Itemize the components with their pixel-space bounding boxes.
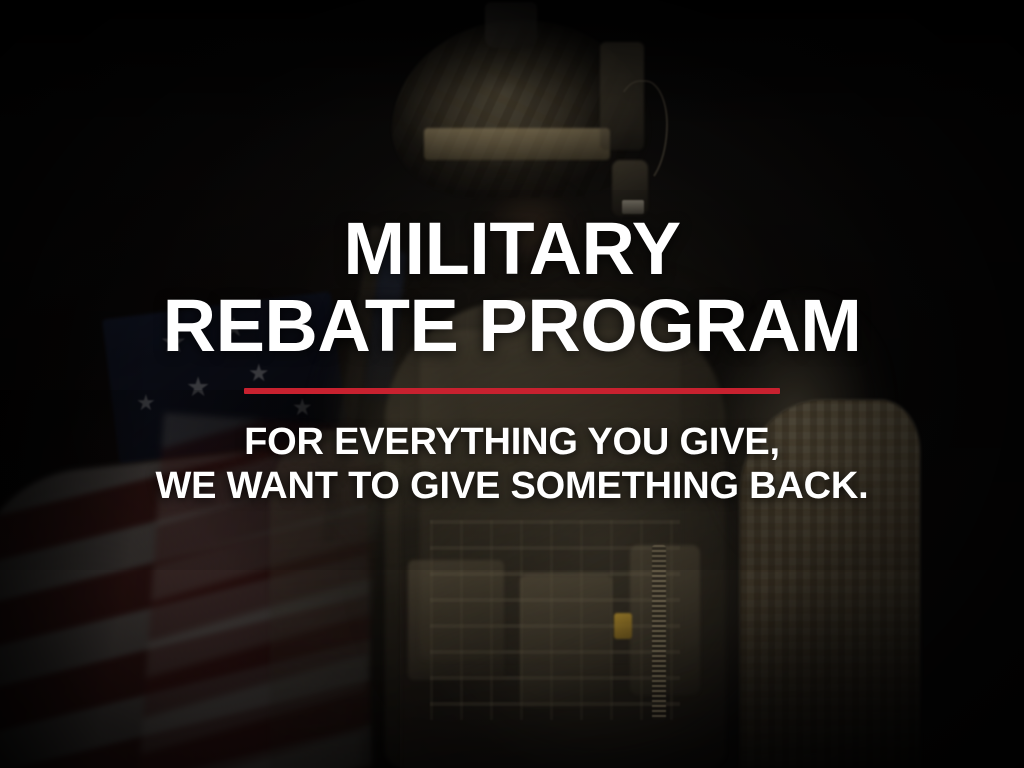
subtitle-line-2: WE WANT TO GIVE SOMETHING BACK.	[156, 464, 869, 508]
red-divider	[244, 388, 780, 394]
poster-subtitle: FOR EVERYTHING YOU GIVE, WE WANT TO GIVE…	[156, 420, 869, 508]
title-line-2: REBATE PROGRAM	[163, 291, 862, 361]
poster-content: MILITARY REBATE PROGRAM FOR EVERYTHING Y…	[0, 0, 1024, 768]
subtitle-line-1: FOR EVERYTHING YOU GIVE,	[156, 420, 869, 464]
page-title: MILITARY REBATE PROGRAM	[163, 214, 862, 362]
military-rebate-poster: ★ ★ ★ ★ ★ ★	[0, 0, 1024, 768]
title-line-1: MILITARY	[163, 214, 862, 284]
